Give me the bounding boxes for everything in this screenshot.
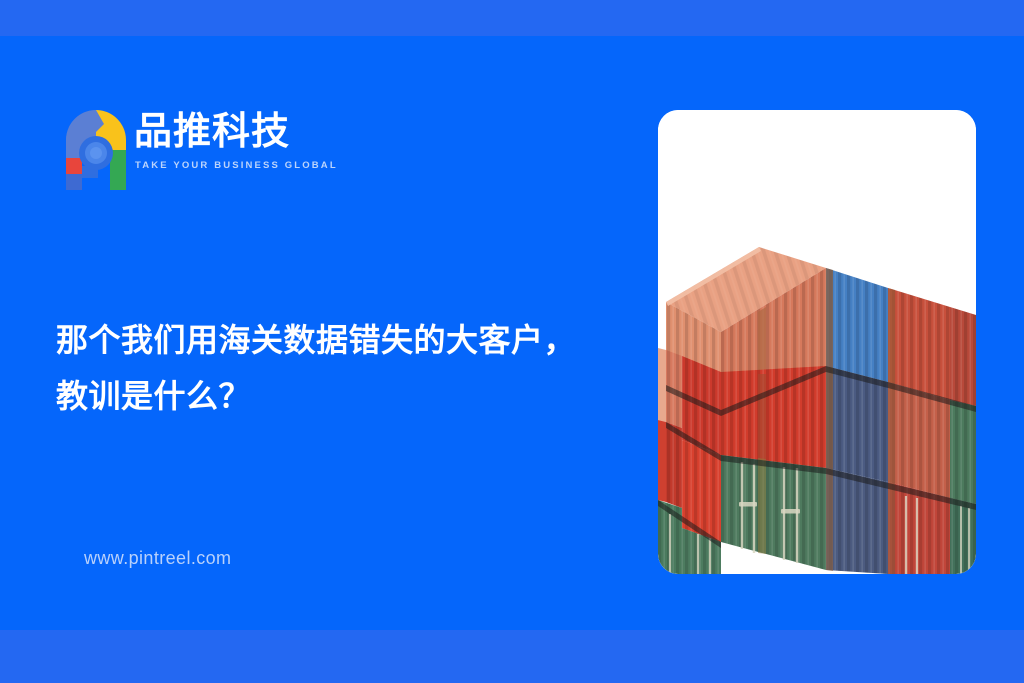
site-url[interactable]: www.pintreel.com: [84, 546, 231, 570]
brand-name-cn: 品推科技: [134, 110, 290, 154]
brand-wordmark: 品推科技 TAKE YOUR BUSINESS GLOBAL: [134, 110, 304, 190]
headline: 那个我们用海关数据错失的大客户， 教训是什么？: [56, 312, 656, 424]
brand-logo[interactable]: 品推科技 TAKE YOUR BUSINESS GLOBAL: [64, 108, 304, 192]
headline-line-2: 教训是什么？: [56, 368, 656, 424]
brand-tagline: TAKE YOUR BUSINESS GLOBAL: [135, 160, 338, 172]
headline-line-1: 那个我们用海关数据错失的大客户，: [56, 312, 656, 368]
pintreel-a-mark-icon: [64, 108, 128, 192]
slide-canvas: 品推科技 TAKE YOUR BUSINESS GLOBAL 那个我们用海关数据…: [0, 0, 1024, 683]
shipping-containers-photo: [658, 110, 976, 574]
